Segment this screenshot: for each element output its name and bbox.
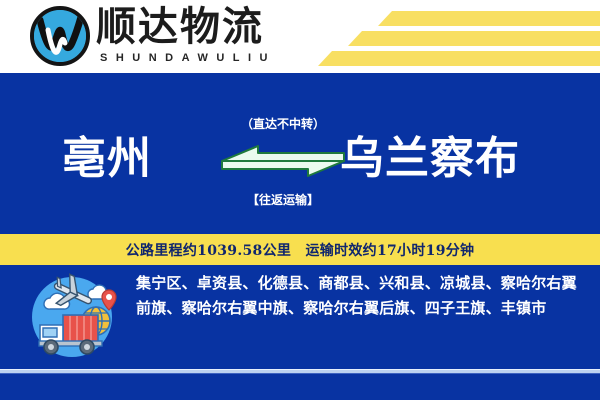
bottom-divider <box>0 369 600 374</box>
direct-shipping-note: （直达不中转） <box>241 115 325 132</box>
destination-city: 乌兰察布 <box>340 131 520 187</box>
distance-and-duration-text: 公路里程约1039.58公里 运输时效约17小时19分钟 <box>126 240 475 260</box>
logistics-truck-plane-globe-icon <box>26 271 118 363</box>
speed-stripe-2 <box>348 31 600 46</box>
poster-body: 亳州 （直达不中转） 【往返运输】 乌兰察布 公路里程约1039.58公里 运输… <box>0 73 600 400</box>
double-headed-arrow-icon <box>218 139 348 185</box>
header-bar: 顺达物流 SHUNDAWULIU <box>0 0 600 73</box>
round-trip-note: 【往返运输】 <box>247 191 319 208</box>
route-arrow-group: （直达不中转） 【往返运输】 <box>218 113 348 223</box>
speed-stripe-3 <box>318 51 600 66</box>
speed-stripes-decoration <box>310 0 600 73</box>
coverage-area-list: 集宁区、卓资县、化德县、商都县、兴和县、凉城县、察哈尔右翼前旗、察哈尔右翼中旗、… <box>136 271 588 321</box>
route-row: 亳州 （直达不中转） 【往返运输】 乌兰察布 <box>0 113 600 233</box>
coverage-section: 集宁区、卓资县、化德县、商都县、兴和县、凉城县、察哈尔右翼前旗、察哈尔右翼中旗、… <box>0 265 600 369</box>
origin-city: 亳州 <box>62 131 152 187</box>
circular-swoosh-logo-icon <box>30 6 90 66</box>
speed-stripe-1 <box>378 11 600 26</box>
brand-name-en: SHUNDAWULIU <box>100 52 276 64</box>
logistics-route-poster: 顺达物流 SHUNDAWULIU 亳州 （直达不中转） 【往返运输】 <box>0 0 600 400</box>
brand-name-cn: 顺达物流 <box>96 4 264 50</box>
stats-bar: 公路里程约1039.58公里 运输时效约17小时19分钟 <box>0 234 600 265</box>
